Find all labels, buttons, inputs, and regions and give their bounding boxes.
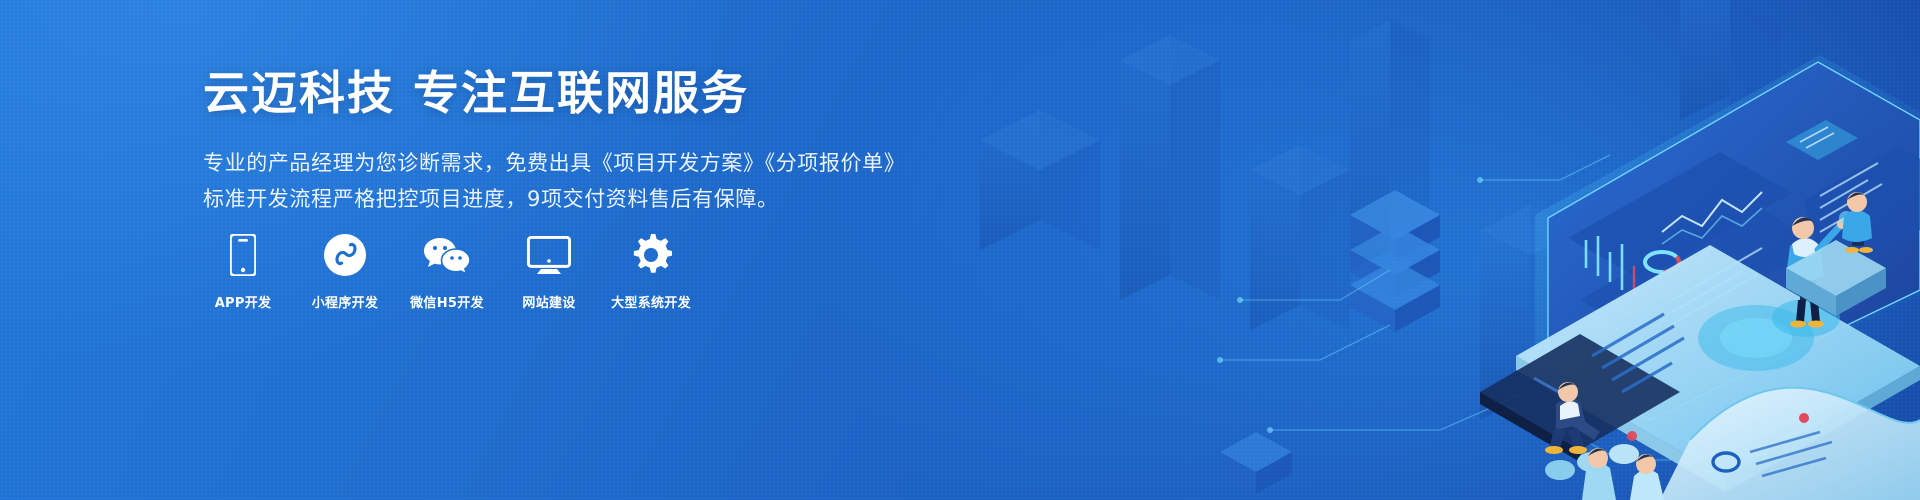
service-item-large-system[interactable]: 大型系统开发: [613, 232, 689, 311]
service-item-wechat-h5[interactable]: 微信H5开发: [409, 232, 485, 311]
illustration-isometric-data-dashboard: [920, 0, 1920, 500]
hero-banner: 云迈科技 专注互联网服务 专业的产品经理为您诊断需求，免费出具《项目开发方案》《…: [0, 0, 1920, 500]
subtitle-line-1: 专业的产品经理为您诊断需求，免费出具《项目开发方案》《分项报价单》: [203, 146, 923, 180]
service-list: APP开发 小程序开发: [205, 232, 689, 311]
service-item-mini-program[interactable]: 小程序开发: [307, 232, 383, 311]
banner-copy: 云迈科技 专注互联网服务 专业的产品经理为您诊断需求，免费出具《项目开发方案》《…: [203, 66, 923, 216]
wechat-icon: [423, 232, 471, 276]
subtitle-line-2: 标准开发流程严格把控项目进度，9项交付资料售后有保障。: [203, 182, 923, 216]
mobile-phone-icon: [230, 232, 256, 276]
service-label: 小程序开发: [312, 292, 379, 311]
service-label: 微信H5开发: [410, 292, 484, 311]
service-label: 大型系统开发: [611, 292, 691, 311]
mini-program-icon: [324, 232, 366, 276]
monitor-icon: [527, 232, 571, 276]
service-item-website[interactable]: 网站建设: [511, 232, 587, 311]
service-label: 网站建设: [522, 292, 575, 311]
gear-icon: [630, 232, 672, 276]
service-label: APP开发: [215, 292, 272, 311]
page-title: 云迈科技 专注互联网服务: [203, 66, 923, 120]
service-item-app[interactable]: APP开发: [205, 232, 281, 311]
